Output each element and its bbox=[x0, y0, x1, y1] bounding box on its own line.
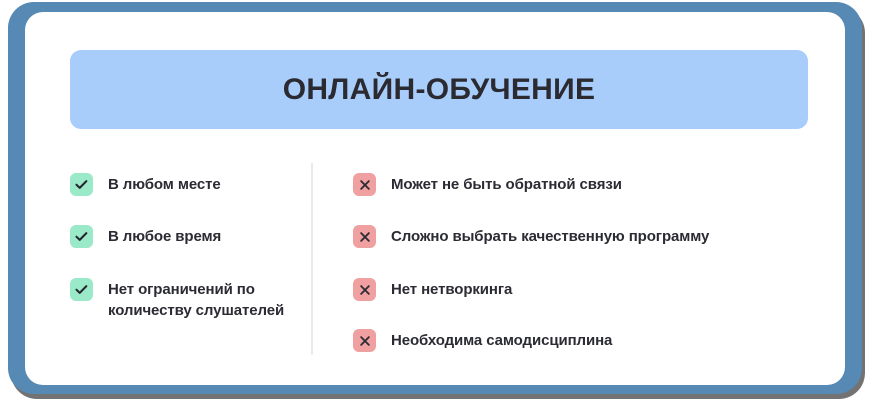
list-item: Нет нетворкинга bbox=[353, 278, 823, 301]
check-icon bbox=[74, 177, 89, 192]
cross-icon bbox=[358, 334, 372, 348]
content-card: ОНЛАЙН-ОБУЧЕНИЕ В любом местеВ любое вре… bbox=[25, 12, 845, 385]
cross-badge bbox=[353, 329, 376, 352]
outer-frame: ОНЛАЙН-ОБУЧЕНИЕ В любом местеВ любое вре… bbox=[8, 2, 862, 394]
list-item-label: В любом месте bbox=[108, 174, 221, 195]
list-item-label: Нет нетворкинга bbox=[391, 279, 512, 300]
cross-badge bbox=[353, 225, 376, 248]
check-badge bbox=[70, 173, 93, 196]
cross-icon bbox=[358, 283, 372, 297]
column-divider bbox=[311, 163, 313, 355]
cross-icon bbox=[358, 230, 372, 244]
comparison-columns: В любом местеВ любое времяНет ограничени… bbox=[25, 155, 845, 375]
cross-icon bbox=[358, 178, 372, 192]
list-item: Сложно выбрать качественную программу bbox=[353, 225, 823, 248]
cross-badge bbox=[353, 278, 376, 301]
list-item: В любое время bbox=[70, 225, 310, 248]
list-item: В любом месте bbox=[70, 173, 310, 196]
list-item: Нет ограничений по количеству слушателей bbox=[70, 278, 310, 321]
list-item-label: Необходима самодисциплина bbox=[391, 330, 612, 351]
page-title: ОНЛАЙН-ОБУЧЕНИЕ bbox=[283, 75, 596, 105]
list-item-label: Сложно выбрать качественную программу bbox=[391, 226, 709, 247]
list-item: Необходима самодисциплина bbox=[353, 329, 823, 352]
list-item-label: В любое время bbox=[108, 226, 221, 247]
cross-badge bbox=[353, 173, 376, 196]
list-item: Может не быть обратной связи bbox=[353, 173, 823, 196]
title-banner: ОНЛАЙН-ОБУЧЕНИЕ bbox=[70, 50, 808, 129]
check-icon bbox=[74, 282, 89, 297]
list-item-label: Нет ограничений по количеству слушателей bbox=[108, 279, 310, 321]
list-item-label: Может не быть обратной связи bbox=[391, 174, 622, 195]
check-badge bbox=[70, 278, 93, 301]
check-icon bbox=[74, 229, 89, 244]
check-badge bbox=[70, 225, 93, 248]
